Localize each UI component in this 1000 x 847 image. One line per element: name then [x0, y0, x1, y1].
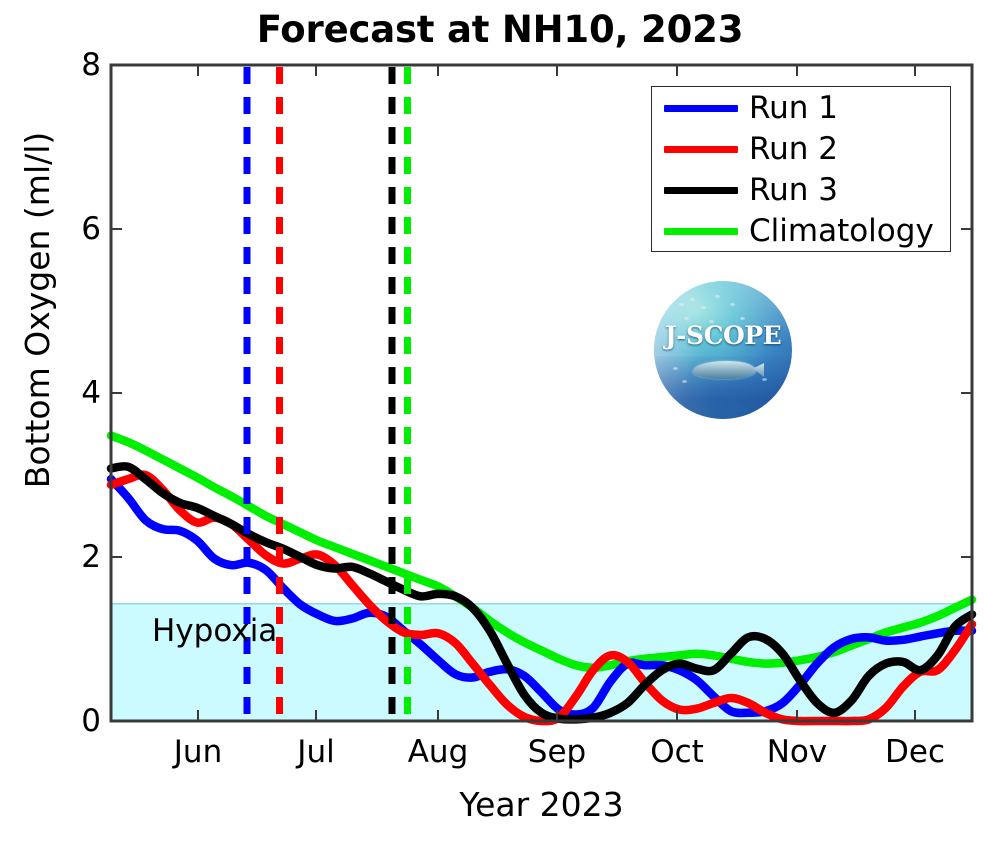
legend-label-run-3: Run 3: [749, 175, 838, 206]
legend-item-run-1[interactable]: Run 1: [652, 88, 952, 129]
logo-fish-school-3: [701, 306, 706, 309]
logo-fish-school-5: [730, 303, 735, 306]
j-scope-logo: J-SCOPE: [654, 281, 792, 419]
chart-figure: Forecast at NH10, 2023 Bottom Oxygen (ml…: [0, 0, 1000, 847]
logo-tuna-icon: [693, 361, 756, 379]
legend-swatch-climatology: [664, 228, 738, 235]
legend-label-run-2: Run 2: [749, 134, 838, 165]
legend-item-climatology[interactable]: Climatology: [652, 211, 952, 252]
logo-fish-school-8: [740, 317, 745, 320]
legend-swatch-run-2: [664, 146, 738, 153]
logo-fish-school-10: [762, 378, 767, 381]
logo-fish-school-2: [690, 298, 695, 301]
legend-item-run-2[interactable]: Run 2: [652, 129, 952, 170]
logo-fish-school-11: [673, 367, 678, 370]
logo-fish-school-4: [715, 295, 720, 298]
legend-swatch-run-3: [664, 187, 738, 194]
legend-label-climatology: Climatology: [749, 216, 934, 247]
logo-label: J-SCOPE: [654, 321, 792, 350]
hypoxia-annotation: Hypoxia: [152, 613, 277, 649]
legend-label-run-1: Run 1: [749, 93, 838, 124]
legend-swatch-run-1: [664, 105, 738, 112]
legend: Run 1 Run 2 Run 3 Climatology: [651, 86, 951, 252]
legend-item-run-3[interactable]: Run 3: [652, 170, 952, 211]
logo-fish-school-1: [679, 303, 684, 306]
